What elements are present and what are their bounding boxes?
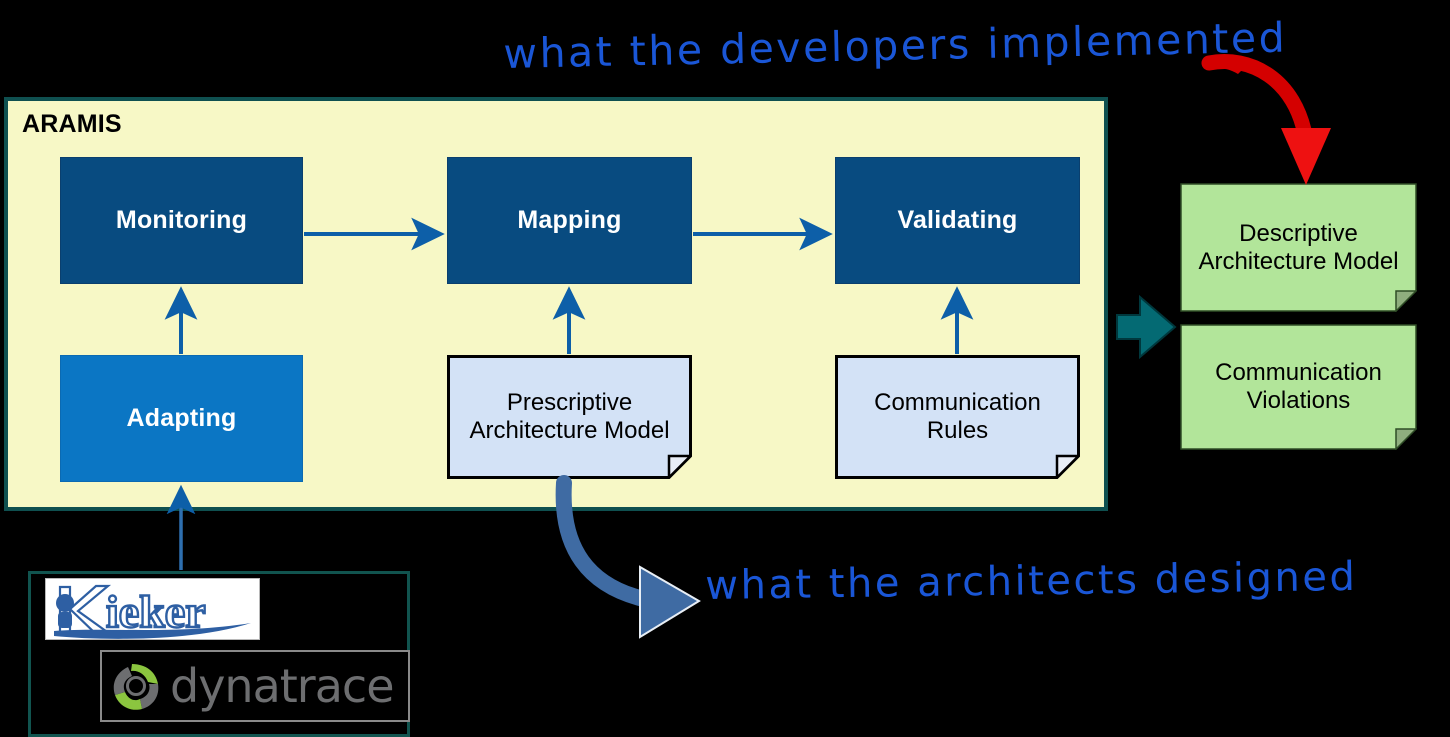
process-box-monitoring[interactable]: Monitoring: [60, 157, 303, 284]
process-box-monitoring-label: Monitoring: [116, 206, 247, 235]
document-prescriptive-architecture-model[interactable]: Prescriptive Architecture Model: [447, 355, 692, 479]
annotation-arrow-red: [1205, 55, 1331, 185]
dynatrace-logo[interactable]: dynatrace: [100, 650, 410, 722]
document-descriptive-label: Descriptive Architecture Model: [1180, 220, 1417, 276]
dynatrace-wordmark: dynatrace: [170, 663, 394, 709]
document-communication-rules[interactable]: Communication Rules: [835, 355, 1080, 479]
document-communication-rules-label: Communication Rules: [835, 389, 1080, 445]
process-box-adapting-label: Adapting: [127, 404, 237, 433]
document-communication-violations[interactable]: Communication Violations: [1180, 324, 1417, 450]
process-box-validating-label: Validating: [897, 206, 1017, 235]
process-box-validating[interactable]: Validating: [835, 157, 1080, 284]
aramis-title: ARAMIS: [22, 110, 122, 139]
process-box-mapping[interactable]: Mapping: [447, 157, 692, 284]
arrow-aramis-to-outputs: [1117, 297, 1175, 357]
annotation-developers-note: what the developers implemented: [503, 14, 1288, 78]
dynatrace-mark-icon: [108, 658, 164, 714]
process-box-mapping-label: Mapping: [517, 206, 621, 235]
diagram-canvas: ARAMIS Monitoring Mapping Validating Ada…: [0, 0, 1450, 737]
kieker-logo-icon: ieker: [46, 579, 260, 640]
process-box-adapting[interactable]: Adapting: [60, 355, 303, 482]
document-violations-label: Communication Violations: [1180, 359, 1417, 415]
document-prescriptive-label: Prescriptive Architecture Model: [447, 389, 692, 445]
document-descriptive-architecture-model[interactable]: Descriptive Architecture Model: [1180, 183, 1417, 312]
annotation-architects-note: what the architects designed: [705, 554, 1358, 609]
kieker-logo[interactable]: ieker: [45, 578, 260, 640]
